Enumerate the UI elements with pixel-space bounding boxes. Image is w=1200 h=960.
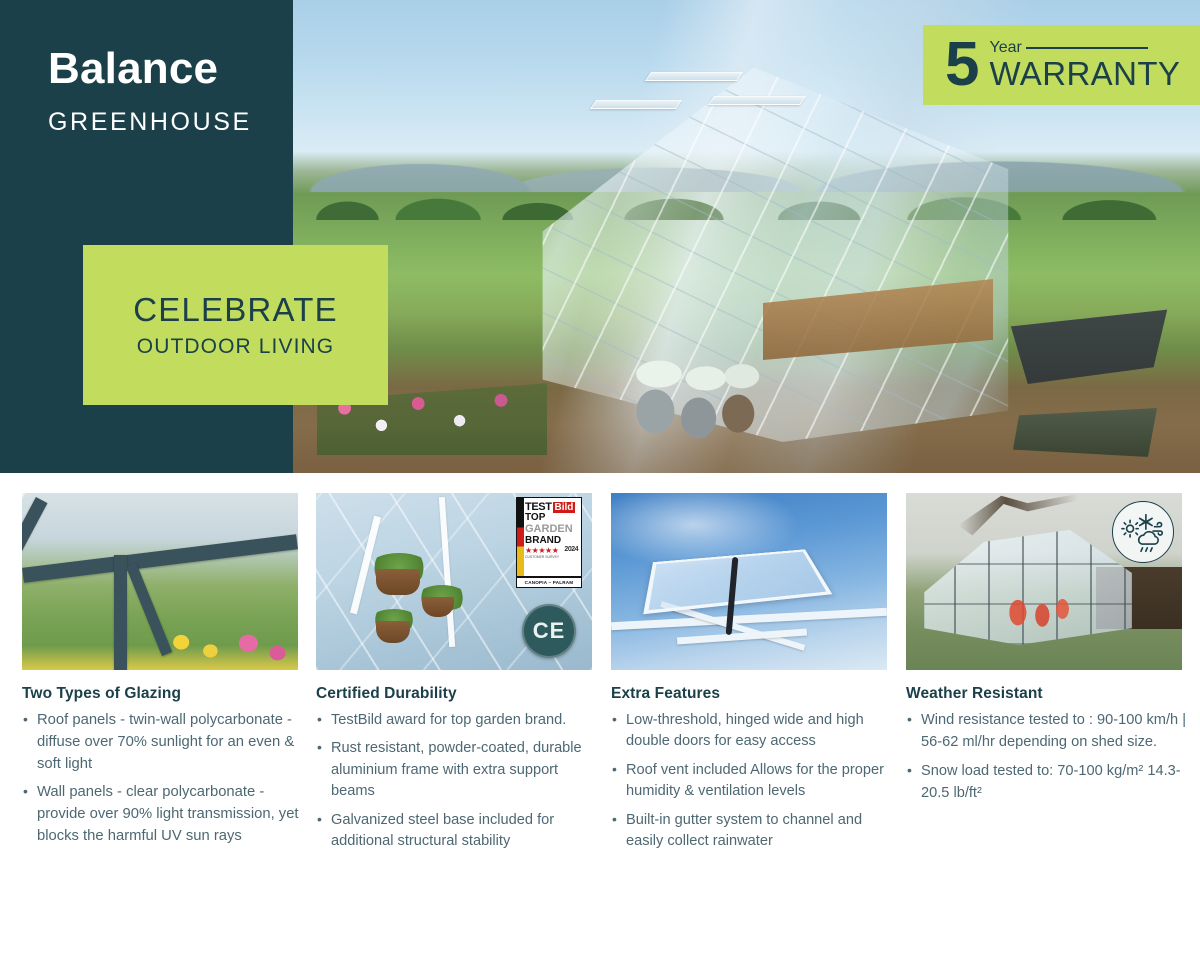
feature-column-extra-features: Extra Features Low-threshold, hinged wid… [611,493,892,860]
list-item: Wind resistance tested to : 90-100 km/h … [906,710,1187,754]
support-pole-2 [439,497,455,647]
german-flag-stripe-icon [517,498,524,576]
warranty-rule-line [1026,47,1148,49]
feature-title: Weather Resistant [906,685,1187,703]
celebrate-callout: CELEBRATE OUTDOOR LIVING [83,245,388,405]
testbild-award-badge: TEST Bild TOP GARDEN BRAND ★★★★★ 2024 CU… [516,497,582,577]
flowers-decoration [152,612,298,666]
hanging-basket-3 [376,621,410,643]
testbild-rating-row: ★★★★★ 2024 [525,546,581,555]
star-rating-icon: ★★★★★ [525,546,558,555]
roof-vent-1 [645,72,743,81]
warranty-year-label: Year [989,39,1021,57]
list-item: Galvanized steel base included for addit… [316,810,597,853]
frame-beam-diagonal-1 [22,497,47,567]
list-item: Wall panels - clear polycarbonate -provi… [22,782,303,847]
weather-sun-snow-rain-wind-icon [1120,509,1166,555]
red-furniture-inside [1002,585,1074,631]
feature-bullet-list: Roof panels - twin-wall polycarbonate - … [22,710,303,848]
feature-column-two-types-of-glazing: Two Types of Glazing Roof panels - twin-… [22,493,303,855]
testbild-footnote: CUSTOMER SURVEY [525,555,581,559]
celebrate-subheadline: OUTDOOR LIVING [137,335,334,359]
brand-title: Balance [48,44,218,94]
wheelbarrow [1004,300,1174,420]
frame-beam-vertical [114,555,127,670]
feature-column-certified-durability: TEST Bild TOP GARDEN BRAND ★★★★★ 2024 CU… [316,493,597,860]
feature-columns: Two Types of Glazing Roof panels - twin-… [0,473,1200,960]
hanging-basket-1 [376,569,420,595]
testbild-line-2: GARDEN [525,524,581,536]
warranty-year-row: Year [989,39,1180,57]
testbild-line-3: BRAND [525,536,581,547]
frame-beam-horizontal [22,534,298,583]
warranty-text-group: Year WARRANTY [989,39,1180,92]
testbild-bild-word: Bild [553,502,576,513]
list-item: Built-in gutter system to channel and ea… [611,810,892,853]
testbild-brand-tab: CANOPIA – PALRAM [516,577,582,588]
testbild-year: 2024 [564,546,578,555]
plant-pots [623,330,803,440]
feature-bullet-list: Low-threshold, hinged wide and high doub… [611,710,892,853]
feature-bullet-list: Wind resistance tested to : 90-100 km/h … [906,710,1187,805]
list-item: Rust resistant, powder-coated, durable a… [316,738,597,802]
roof-vent-3 [590,100,682,109]
feature-image-glazing [22,493,298,670]
garden-crate [1010,407,1160,459]
feature-title: Two Types of Glazing [22,685,303,703]
feature-bullet-list: TestBild award for top garden brand. Rus… [316,710,597,853]
list-item: TestBild award for top garden brand. [316,710,597,731]
list-item: Low-threshold, hinged wide and high doub… [611,710,892,753]
feature-title: Certified Durability [316,685,597,703]
celebrate-headline: CELEBRATE [133,291,338,329]
weather-resistant-icon [1112,501,1174,563]
list-item: Roof vent included Allows for the proper… [611,760,892,803]
feature-title: Extra Features [611,685,892,703]
list-item: Roof panels - twin-wall polycarbonate - … [22,710,303,775]
hero-banner: Balance GREENHOUSE CELEBRATE OUTDOOR LIV… [0,0,1200,473]
warranty-word: WARRANTY [989,57,1180,92]
ce-certification-icon: CE [522,604,576,658]
feature-image-weather [906,493,1182,670]
feature-image-durability: TEST Bild TOP GARDEN BRAND ★★★★★ 2024 CU… [316,493,592,670]
feature-image-roof-vent [611,493,887,670]
brand-subtitle: GREENHOUSE [48,108,252,137]
warranty-number: 5 [945,34,977,96]
warranty-badge: 5 Year WARRANTY [923,25,1200,105]
roof-vent-2 [708,96,806,105]
feature-column-weather-resistant: Weather Resistant Wind resistance tested… [906,493,1187,812]
list-item: Snow load tested to: 70-100 kg/m² 14.3-2… [906,761,1187,805]
